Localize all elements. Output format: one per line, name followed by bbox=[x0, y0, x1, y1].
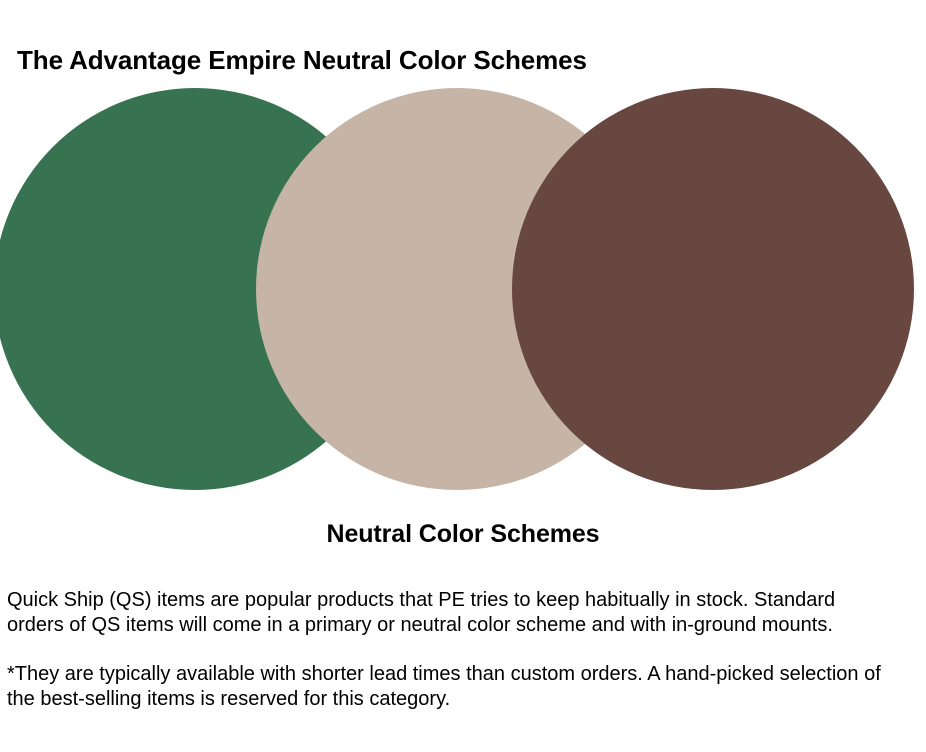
swatch-circle-brown bbox=[512, 88, 914, 490]
color-swatch-figure bbox=[0, 88, 926, 492]
body-paragraph-1: Quick Ship (QS) items are popular produc… bbox=[7, 588, 897, 637]
body-copy: Quick Ship (QS) items are popular produc… bbox=[7, 588, 897, 711]
figure-caption: Neutral Color Schemes bbox=[0, 519, 926, 549]
body-paragraph-2: *They are typically available with short… bbox=[7, 662, 897, 711]
page-root: The Advantage Empire Neutral Color Schem… bbox=[0, 0, 926, 752]
page-title: The Advantage Empire Neutral Color Schem… bbox=[17, 45, 587, 75]
